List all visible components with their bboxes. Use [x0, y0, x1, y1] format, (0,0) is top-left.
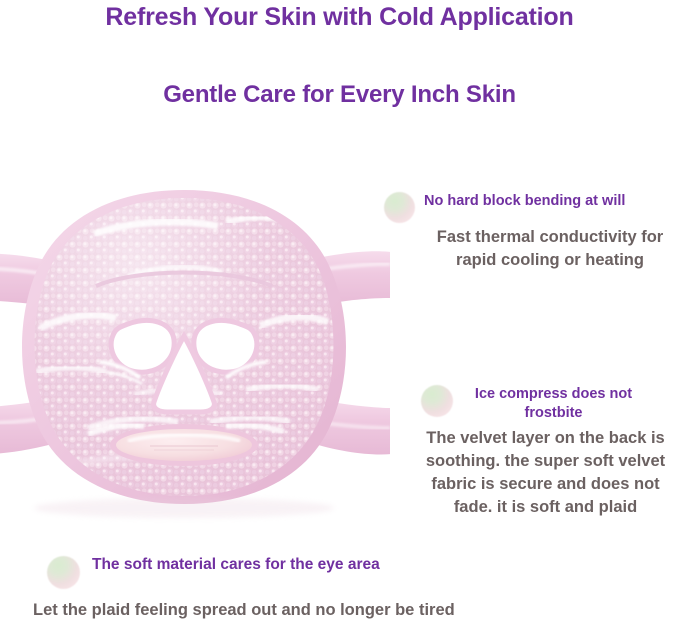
page-title-secondary: Gentle Care for Every Inch Skin: [0, 80, 679, 110]
gradient-dot-icon: [384, 192, 415, 223]
feature-heading: The soft material cares for the eye area: [92, 553, 679, 577]
feature-block-thermal-conductivity: No hard block bending at will Fast therm…: [424, 192, 679, 272]
page-title-primary: Refresh Your Skin with Cold Application: [0, 2, 679, 32]
feature-block-no-frostbite: Ice compress does not frostbite The velv…: [420, 385, 679, 519]
feature-body: Let the plaid feeling spread out and no …: [33, 599, 679, 622]
product-image-gel-face-mask: [0, 150, 390, 550]
feature-body: Fast thermal conductivity for rapid cool…: [424, 226, 676, 272]
feature-block-eye-area-care: The soft material cares for the eye area…: [0, 553, 679, 622]
feature-body: The velvet layer on the back is soothing…: [416, 427, 675, 519]
feature-heading: Ice compress does not frostbite: [448, 385, 659, 423]
feature-heading: No hard block bending at will: [424, 192, 679, 211]
